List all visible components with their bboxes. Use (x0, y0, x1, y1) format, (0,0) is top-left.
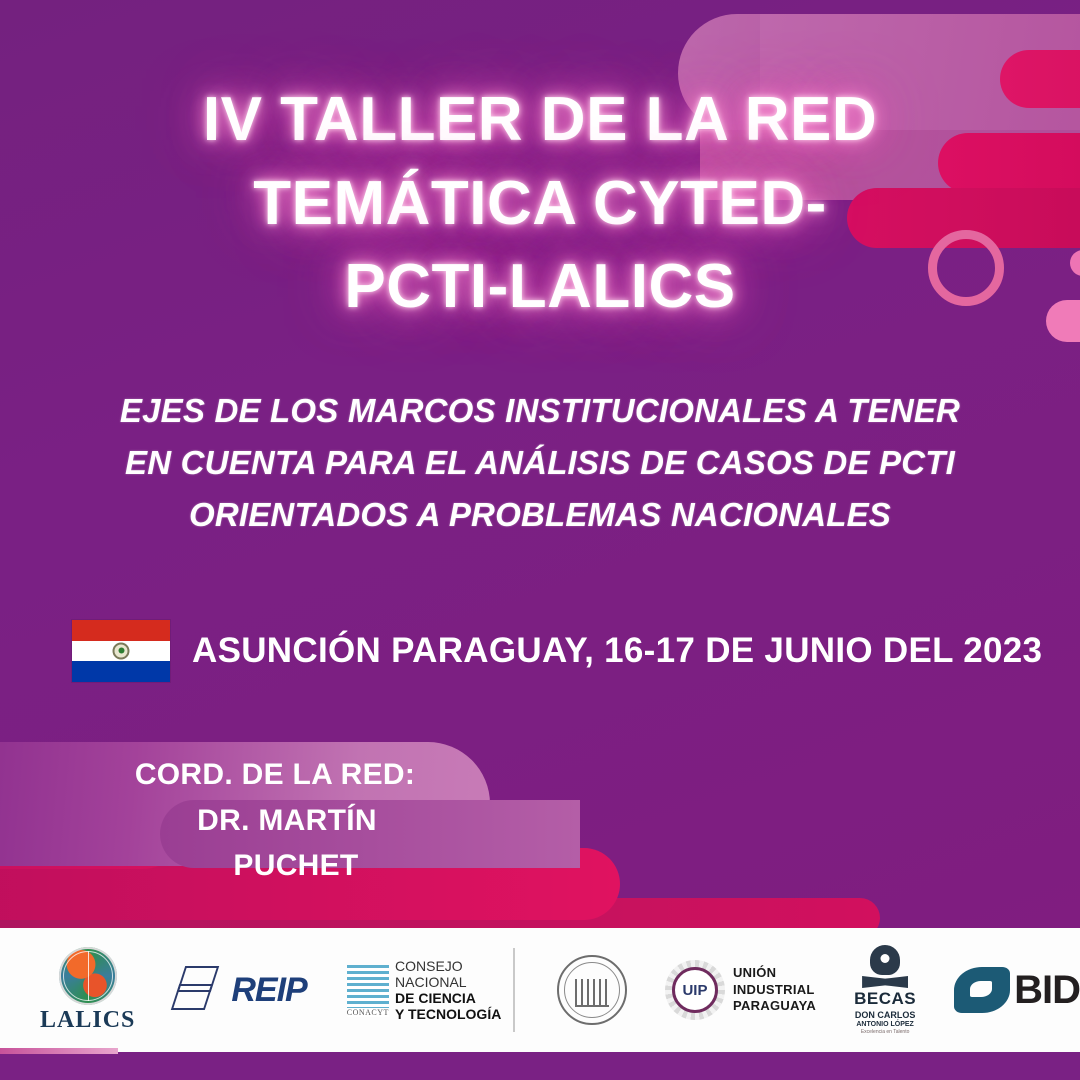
uip-acronym: UIP (672, 967, 718, 1013)
becas-don-carlos-antonio-lopez-logo: BECAS DON CARLOS ANTONIO LÓPEZ Excelenci… (854, 945, 916, 1035)
conacyt-text-line-1: CONSEJO NACIONAL (395, 958, 507, 990)
becas-crest-icon (870, 945, 900, 975)
bcp-seal-icon (557, 955, 627, 1025)
title-line-1: IV TALLER DE LA RED (90, 78, 990, 162)
coordinator-name-line-2: PUCHET (75, 843, 475, 889)
union-industrial-paraguaya-logo: UIP UNIÓN INDUSTRIAL PARAGUAYA (665, 960, 816, 1020)
title-line-3: PCTI-LALICS (90, 245, 990, 329)
banco-central-del-paraguay-logo (557, 955, 627, 1025)
reip-logo-text: REIP (231, 971, 306, 1010)
event-poster: IV TALLER DE LA RED TEMÁTICA CYTED- PCTI… (0, 0, 1080, 1080)
reip-logo: REIP (175, 964, 306, 1016)
bcp-building-icon (575, 979, 609, 1007)
title-line-2: TEMÁTICA CYTED- (90, 162, 990, 246)
uip-text-line-2: INDUSTRIAL (733, 982, 816, 999)
date-location-bar: ASUNCIÓN PARAGUAY, 16-17 DE JUNIO DEL 20… (72, 620, 1042, 682)
uip-logo-text: UNIÓN INDUSTRIAL PARAGUAYA (733, 965, 816, 1015)
uip-text-line-1: UNIÓN (733, 965, 816, 982)
coordinator-block: CORD. DE LA RED: DR. MARTÍN PUCHET (75, 752, 475, 889)
book-icon (862, 976, 908, 988)
reip-mark-icon (175, 964, 227, 1016)
flag-band-red (72, 620, 170, 641)
becas-text-line-4: Excelencia en Talento (861, 1029, 910, 1035)
coordinator-label: CORD. DE LA RED: (135, 758, 415, 791)
bid-mark-icon (954, 967, 1010, 1013)
bid-logo-text: BID (1014, 968, 1080, 1013)
becas-text-line-3: ANTONIO LÓPEZ (856, 1021, 913, 1028)
conacyt-bars-icon (347, 965, 389, 1015)
decorative-pill-pale-right (1046, 300, 1080, 342)
conacyt-logo-text: CONSEJO NACIONAL DE CIENCIA Y TECNOLOGÍA (395, 958, 507, 1023)
conacyt-text-line-2: DE CIENCIA (395, 990, 507, 1006)
flag-band-white (72, 641, 170, 662)
bottom-accent-strip (0, 1052, 1080, 1080)
lalics-logo-text: LALICS (40, 1007, 135, 1034)
becas-text-line-2: DON CARLOS (855, 1010, 916, 1020)
flag-band-blue (72, 661, 170, 682)
logo-bar-divider (513, 948, 515, 1032)
sponsor-group-left: LALICS REIP CONSEJO NACIONAL DE CIENCIA … (0, 947, 507, 1034)
event-date-location: ASUNCIÓN PARAGUAY, 16-17 DE JUNIO DEL 20… (192, 631, 1042, 671)
flag-emblem-icon (113, 642, 130, 659)
conacyt-text-line-3: Y TECNOLOGÍA (395, 1006, 507, 1022)
coordinator-name-line-1: DR. MARTÍN (75, 798, 475, 844)
sponsor-group-right: UIP UNIÓN INDUSTRIAL PARAGUAYA BECAS DON… (521, 945, 1080, 1035)
gear-icon: UIP (665, 960, 725, 1020)
globe-icon (59, 947, 117, 1005)
lalics-logo: LALICS (40, 947, 135, 1034)
becas-text-line-1: BECAS (854, 989, 916, 1009)
decorative-pill-pink-1 (1000, 50, 1080, 108)
conacyt-logo: CONSEJO NACIONAL DE CIENCIA Y TECNOLOGÍA (347, 958, 507, 1023)
bid-logo: BID (954, 967, 1080, 1013)
poster-subtitle: EJES DE LOS MARCOS INSTITUCIONALES A TEN… (110, 385, 970, 541)
uip-text-line-3: PARAGUAYA (733, 998, 816, 1015)
poster-title: IV TALLER DE LA RED TEMÁTICA CYTED- PCTI… (90, 78, 990, 329)
paraguay-flag-icon (72, 620, 170, 682)
sponsor-logo-bar: LALICS REIP CONSEJO NACIONAL DE CIENCIA … (0, 928, 1080, 1052)
